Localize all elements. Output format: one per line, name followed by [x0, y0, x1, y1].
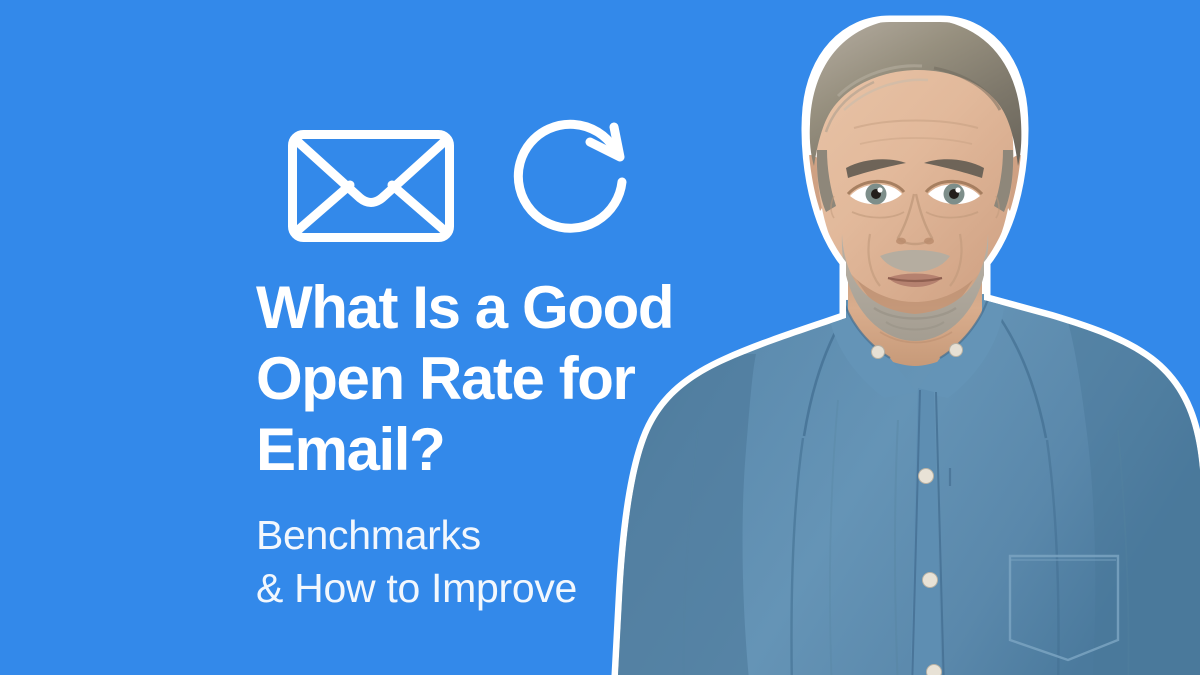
hero-banner: What Is a Good Open Rate for Email? Benc… — [0, 0, 1200, 675]
man-portrait-cutout — [598, 0, 1200, 675]
envelope-icon — [288, 130, 454, 242]
icon-row — [288, 112, 648, 247]
